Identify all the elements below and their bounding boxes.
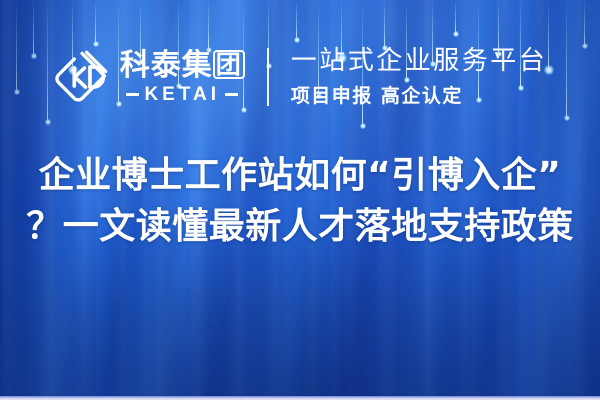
promo-banner: 科泰集团 KETAI 一站式企业服务平台 项目申报 高企认定 企业博士工作站如何… [0,0,600,400]
headline-line-2: ？一文读懂最新人才落地支持政策 [0,201,600,252]
brand-name-cn-main: 科泰集 [120,48,213,83]
tagline-secondary: 项目申报 高企认定 [291,81,548,108]
brand-name-cn: 科泰集团 [120,50,245,82]
brand-wordmark: 科泰集团 KETAI [120,50,245,104]
header-divider [267,48,269,106]
headline-block: 企业博士工作站如何“引博入企” ？一文读懂最新人才落地支持政策 [0,150,600,252]
brand-tagline: 一站式企业服务平台 项目申报 高企认定 [291,46,548,108]
brand-name-cn-boxed: 团 [213,50,245,79]
brand-name-en: KETAI [144,85,220,104]
ketai-diamond-kd-logo-icon [53,49,109,105]
wordmark-rule-right-icon [225,93,238,96]
wordmark-rule-left-icon [126,93,139,96]
tagline-primary: 一站式企业服务平台 [291,46,548,77]
brand-name-en-row: KETAI [126,85,238,104]
bottom-light-edge [0,396,600,400]
banner-header: 科泰集团 KETAI 一站式企业服务平台 项目申报 高企认定 [0,38,600,116]
brand-logo[interactable]: 科泰集团 KETAI [53,49,245,105]
headline-line-1: 企业博士工作站如何“引博入企” [0,150,600,201]
